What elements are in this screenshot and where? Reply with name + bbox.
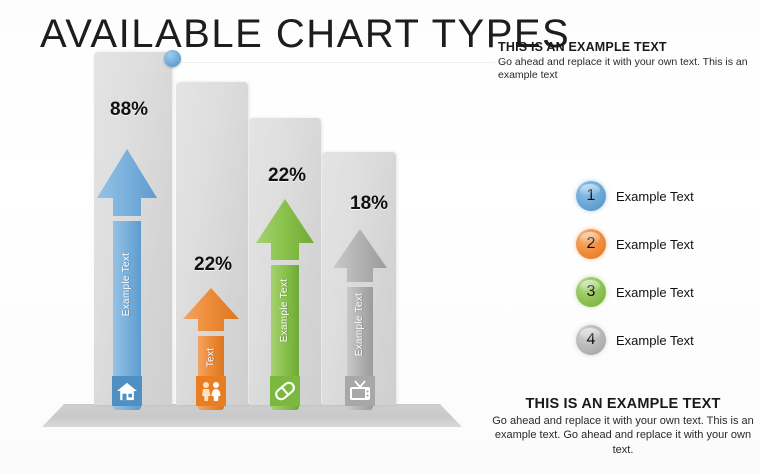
legend-bullet-3: 3 bbox=[576, 277, 606, 307]
legend-bullet-2: 2 bbox=[576, 229, 606, 259]
people-icon-tile bbox=[199, 381, 223, 401]
legend-item-3[interactable]: 3 Example Text bbox=[576, 268, 756, 316]
data-label-2: 22% bbox=[194, 254, 232, 276]
arrow-label-4: Example Text bbox=[355, 293, 366, 356]
arrow-column-4[interactable]: Example Text bbox=[332, 228, 388, 405]
legend-item-2[interactable]: 2 Example Text bbox=[576, 220, 756, 268]
arrow-column-3[interactable]: Example Text bbox=[255, 198, 315, 405]
arrow-column-2[interactable]: Text bbox=[182, 287, 240, 405]
data-label-4: 18% bbox=[350, 193, 388, 215]
legend-label-3: Example Text bbox=[616, 285, 694, 300]
arrow-column-1[interactable]: Example Text bbox=[96, 148, 158, 405]
top-right-heading: THIS IS AN EXAMPLE TEXT bbox=[498, 40, 748, 54]
arrow-head-2 bbox=[182, 287, 240, 331]
bottom-right-heading: THIS IS AN EXAMPLE TEXT bbox=[492, 396, 754, 412]
icon-tile-4 bbox=[345, 376, 375, 406]
blue-dot-marker[interactable] bbox=[164, 50, 181, 67]
arrow-label-1: Example Text bbox=[122, 253, 133, 316]
legend-label-1: Example Text bbox=[616, 189, 694, 204]
legend-item-4[interactable]: 4 Example Text bbox=[576, 316, 756, 364]
arrow-label-2: Text bbox=[205, 348, 216, 368]
legend-bullet-1: 1 bbox=[576, 181, 606, 211]
legend-item-1[interactable]: 1 Example Text bbox=[576, 172, 756, 220]
chart-stage: 88% 22% 22% 18% Example Text bbox=[0, 0, 500, 475]
slide-canvas: AVAILABLE CHART TYPES 88% 22% 22% bbox=[0, 0, 760, 475]
legend-label-2: Example Text bbox=[616, 237, 694, 252]
legend-label-4: Example Text bbox=[616, 333, 694, 348]
tv-icon-tile bbox=[348, 380, 372, 402]
arrow-label-3: Example Text bbox=[280, 279, 291, 342]
top-right-body: Go ahead and replace it with your own te… bbox=[498, 56, 748, 83]
pill-icon-tile bbox=[273, 380, 297, 402]
icon-tile-2 bbox=[196, 376, 226, 406]
legend-list: 1 Example Text 2 Example Text 3 Example … bbox=[576, 172, 756, 364]
top-right-text-block: THIS IS AN EXAMPLE TEXT Go ahead and rep… bbox=[498, 40, 748, 83]
house-icon-tile bbox=[116, 381, 138, 401]
icon-tile-1 bbox=[112, 376, 142, 406]
bottom-right-body: Go ahead and replace it with your own te… bbox=[492, 414, 754, 457]
data-label-1: 88% bbox=[110, 99, 148, 121]
icon-tile-3 bbox=[270, 376, 300, 406]
arrow-head-1 bbox=[96, 148, 158, 216]
bottom-right-text-block: THIS IS AN EXAMPLE TEXT Go ahead and rep… bbox=[492, 396, 754, 457]
chart-floor bbox=[42, 404, 462, 428]
legend-bullet-4: 4 bbox=[576, 325, 606, 355]
arrow-head-3 bbox=[255, 198, 315, 260]
arrow-head-4 bbox=[332, 228, 388, 282]
data-label-3: 22% bbox=[268, 165, 306, 187]
